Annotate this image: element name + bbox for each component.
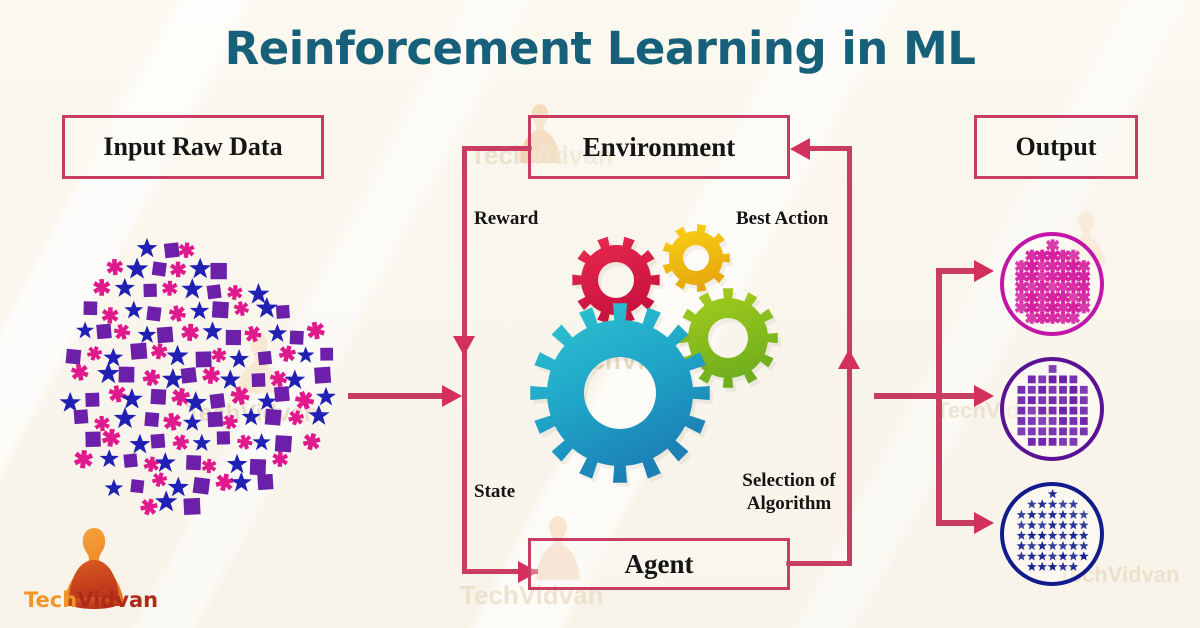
logo-text-part1: Tech	[24, 588, 77, 612]
arrow-head-output-bottom	[974, 512, 994, 534]
arrow-line-agent-right-horizontal	[786, 561, 852, 566]
arrow-line-input-to-env	[348, 393, 444, 399]
box-agent[interactable]: Agent	[528, 538, 790, 590]
box-output[interactable]: Output	[974, 115, 1138, 179]
arrow-line-env-left-vertical	[462, 146, 467, 574]
box-output-label: Output	[1016, 132, 1097, 162]
box-environment-label: Environment	[583, 132, 736, 163]
arrow-line-env-left-horizontal	[462, 146, 532, 151]
arrow-head-output-top	[974, 260, 994, 282]
output-cluster-stars	[1000, 482, 1104, 586]
input-raw-data-cluster	[50, 238, 340, 523]
arrow-head-reward-down	[453, 336, 475, 356]
edge-label-state: State	[474, 480, 515, 503]
arrow-head-input-to-env	[442, 385, 462, 407]
page-title: Reinforcement Learning in ML	[0, 22, 1200, 75]
arrow-line-output-stem	[874, 393, 940, 399]
edge-label-reward: Reward	[474, 207, 538, 230]
edge-label-selection-of-algorithm: Selection of Algorithm	[733, 469, 845, 515]
box-input-raw-data[interactable]: Input Raw Data	[62, 115, 324, 179]
box-agent-label: Agent	[625, 549, 694, 580]
logo-text-part2: Vidvan	[77, 588, 158, 612]
techvidvan-logo-text: TechVidvan	[24, 588, 164, 612]
arrow-head-action-up	[838, 349, 860, 369]
arrow-head-output-middle	[974, 385, 994, 407]
edge-label-selection-line1: Selection of	[733, 469, 845, 492]
box-environment[interactable]: Environment	[528, 115, 790, 179]
edge-label-best-action: Best Action	[736, 207, 828, 230]
gears-group	[520, 218, 810, 508]
edge-label-selection-line2: Algorithm	[733, 492, 845, 515]
output-cluster-asterisks	[1000, 232, 1104, 336]
box-input-raw-data-label: Input Raw Data	[103, 132, 282, 162]
diagram-canvas: TechVidvan TechVidvan TechVidvan TechVid…	[0, 0, 1200, 628]
output-cluster-squares	[1000, 357, 1104, 461]
arrow-head-action-to-env	[790, 138, 810, 160]
